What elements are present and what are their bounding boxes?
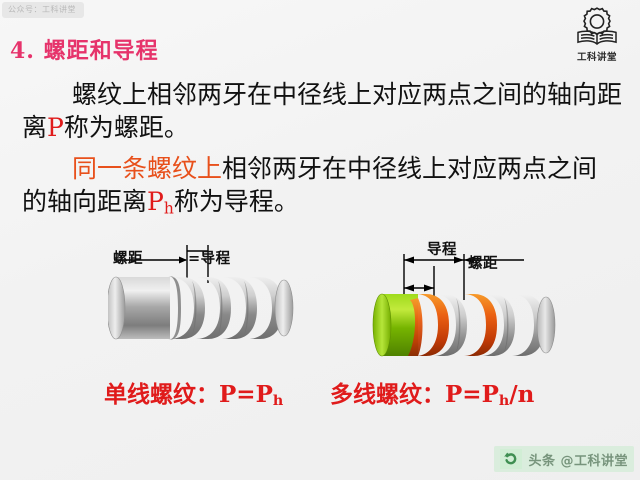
lead-symbol: Ph bbox=[147, 187, 174, 216]
right-figure-lead-label: 导程 bbox=[427, 238, 457, 259]
pitch-text-b: 称为螺距。 bbox=[64, 113, 189, 142]
slide-canvas: 公众号：工科讲堂 工科讲堂 4. 螺距和导程 bbox=[0, 0, 640, 480]
watermark-top: 公众号：工科讲堂 bbox=[2, 2, 84, 18]
formula-multi-sub: h bbox=[499, 393, 509, 409]
formula-single-start: 单线螺纹：P=Ph bbox=[104, 375, 283, 409]
formula-single-sub: h bbox=[273, 393, 283, 409]
formula-single-expr: P=Ph bbox=[219, 381, 283, 408]
left-figure-lead-label: =导程 bbox=[188, 247, 231, 268]
lead-symbol-base: P bbox=[147, 187, 164, 216]
formula-multi-expr: P=Ph/n bbox=[445, 381, 534, 408]
watermark-bottom-text: 头条 @工科讲堂 bbox=[528, 450, 628, 469]
formula-multi-tail: /n bbox=[509, 381, 534, 408]
formula-single-base: P=P bbox=[219, 381, 273, 408]
watermark-bottom: 头条 @工科讲堂 bbox=[494, 446, 634, 472]
formula-multi-label: 多线螺纹： bbox=[330, 381, 445, 408]
pitch-symbol: P bbox=[47, 113, 64, 142]
gear-book-icon bbox=[574, 4, 620, 48]
paragraph-pitch-definition: 螺纹上相邻两牙在中径线上对应两点之间的轴向距离P称为螺距。 bbox=[22, 78, 622, 145]
left-figure-pitch-label: 螺距 bbox=[113, 247, 143, 268]
lead-symbol-sub: h bbox=[164, 200, 174, 218]
formula-multi-start: 多线螺纹：P=Ph/n bbox=[330, 375, 534, 409]
logo-text: 工科讲堂 bbox=[577, 49, 617, 63]
brand-logo: 工科讲堂 bbox=[566, 4, 628, 66]
page-title: 4. 螺距和导程 bbox=[10, 33, 159, 65]
formula-multi-base: P=P bbox=[445, 381, 499, 408]
lead-text-b: 称为导程。 bbox=[174, 187, 299, 216]
refresh-arrow-icon bbox=[500, 449, 522, 469]
right-figure-pitch-label: 螺距 bbox=[468, 252, 498, 273]
formula-single-label: 单线螺纹： bbox=[104, 381, 219, 408]
lead-highlight: 同一条螺纹上 bbox=[72, 154, 222, 183]
paragraph-lead-definition: 同一条螺纹上相邻两牙在中径线上对应两点之间的轴向距离Ph称为导程。 bbox=[22, 152, 622, 219]
